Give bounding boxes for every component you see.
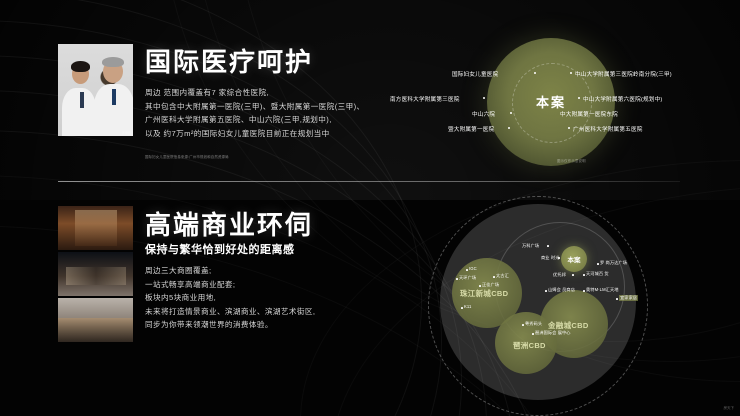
medical-label-dot xyxy=(483,97,485,99)
medical-line: 周边 范围内覆盖有7 家综合性医院, xyxy=(145,86,365,100)
medical-label-dot xyxy=(578,97,580,99)
poi-label: 商业 时光 xyxy=(541,255,559,261)
thumbnail-image xyxy=(58,298,133,342)
medical-line: 其中包含中大附属第一医院(三甲)、暨大附属第一医院(三甲)、 xyxy=(145,100,365,114)
poi-dot xyxy=(522,324,524,326)
poi-label: 万科广场 xyxy=(522,243,539,249)
poi-dot xyxy=(547,245,549,247)
coat-shape xyxy=(62,88,96,136)
poi-dot xyxy=(456,278,458,280)
poi-dot xyxy=(466,269,468,271)
poi-dot xyxy=(479,285,481,287)
watermark: 房天下 xyxy=(724,406,735,411)
medical-title: 国际医疗呵护 xyxy=(145,42,313,79)
poi-dot xyxy=(532,333,534,335)
business-line: 板块内5块商业用地, xyxy=(145,291,315,305)
poi-label: 优托邦 xyxy=(553,272,566,278)
poi-label: 太古汇 xyxy=(496,273,509,279)
thumbnail-department-store xyxy=(58,298,133,342)
doctors-photo-image xyxy=(58,44,133,136)
medical-label-dot xyxy=(534,72,536,74)
medical-label-right: 广州医科大学附属第五医院 xyxy=(573,125,643,133)
thumbnail-image xyxy=(58,206,133,250)
medical-source-note: 国际妇女儿童医院信息来源:广州市规划和自然资源局 xyxy=(145,154,229,159)
business-line: 同步为你带来领潮世界的消费体验。 xyxy=(145,318,315,332)
business-subtitle: 保持与繁华恰到好处的距离感 xyxy=(145,241,295,257)
tie-shape xyxy=(112,89,116,105)
business-line: 一站式畅享高端商业配套; xyxy=(145,278,315,292)
poi-label: 天环广场 xyxy=(459,275,476,281)
medical-label-left: 南方医科大学附属第三医院 xyxy=(390,95,460,103)
business-paragraph: 周边三大商圈覆盖; 一站式畅享高端商业配套; 板块内5块商业用地, 未来将打造情… xyxy=(145,264,315,332)
thumbnail-image xyxy=(58,252,133,296)
poi-label: 宜家家居 xyxy=(619,295,638,301)
poi-dot xyxy=(493,276,495,278)
medical-label-left: 中山六院 xyxy=(472,110,495,118)
poi-dot xyxy=(616,298,618,300)
poi-dot xyxy=(597,263,599,265)
medical-paragraph: 周边 范围内覆盖有7 家综合性医院, 其中包含中大附属第一医院(三甲)、暨大附属… xyxy=(145,86,365,140)
tie-shape xyxy=(80,92,84,108)
poi-dot xyxy=(461,307,463,309)
cbd-label-zhujiang: 珠江新城CBD xyxy=(460,288,508,299)
poi-label: IGC xyxy=(469,266,477,271)
poi-label: 正佳广场 xyxy=(482,282,499,288)
poi-dot xyxy=(572,274,574,276)
business-diagram-center-label: 本案 xyxy=(561,246,587,272)
poi-label: 罗 岗万达广场 xyxy=(600,260,627,266)
poi-label: 天河城百 货 xyxy=(586,271,609,277)
medical-label-left: 国际妇女儿童医院 xyxy=(452,70,498,78)
hair-shape xyxy=(71,61,90,72)
medical-label-right: 中山大学附属第六医院(规划中) xyxy=(583,95,662,103)
medical-label-dot xyxy=(570,72,572,74)
hair-shape xyxy=(102,57,124,67)
medical-label-dot xyxy=(510,112,512,114)
slide-root: 示意图 国际医疗呵护 周边 范围内覆盖有7 家综合性医院, 其中包含中大附属第一… xyxy=(0,0,740,416)
poi-dot xyxy=(545,290,547,292)
poi-label: 粤秀码头 xyxy=(525,321,542,327)
cbd-label-pazhou: 琶洲CBD xyxy=(513,340,546,351)
section-divider xyxy=(58,181,680,182)
medical-label-right: 中大附属第一医院东院 xyxy=(560,110,618,118)
poi-dot xyxy=(558,257,560,259)
medical-label-dot xyxy=(568,127,570,129)
photo-credit: 示意图 xyxy=(122,131,131,135)
doctors-photo: 示意图 xyxy=(58,44,133,136)
poi-label: 山姆会 员商店 xyxy=(548,287,575,293)
poi-dot xyxy=(583,290,585,292)
medical-label-right: 中山大学附属第三医院岭南分院(三甲) xyxy=(575,70,672,78)
medical-label-left: 暨大附属第一医院 xyxy=(448,125,494,133)
business-line: 未来将打造情景商业、滨湖商业、滨湖艺术街区, xyxy=(145,305,315,319)
poi-label: K11 xyxy=(464,304,471,309)
poi-dot xyxy=(583,274,585,276)
business-title: 高端商业环伺 xyxy=(145,205,313,242)
medical-line: 以及 约7万m²的国际妇女儿童医院目前正在规划当中 xyxy=(145,127,365,141)
medical-diagram-note: 图示仅作示意说明 xyxy=(557,158,586,163)
medical-line: 广州医科大学附属第五医院、中山六院(三甲,规划中), xyxy=(145,113,365,127)
thumbnail-street-mall xyxy=(58,252,133,296)
business-line: 周边三大商圈覆盖; xyxy=(145,264,315,278)
medical-label-dot xyxy=(508,127,510,129)
thumbnail-shopping-arcade xyxy=(58,206,133,250)
poi-label: 奥特M·LM汇天地 xyxy=(586,287,619,293)
poi-label: 琶洲国际会 展中心 xyxy=(535,330,571,336)
